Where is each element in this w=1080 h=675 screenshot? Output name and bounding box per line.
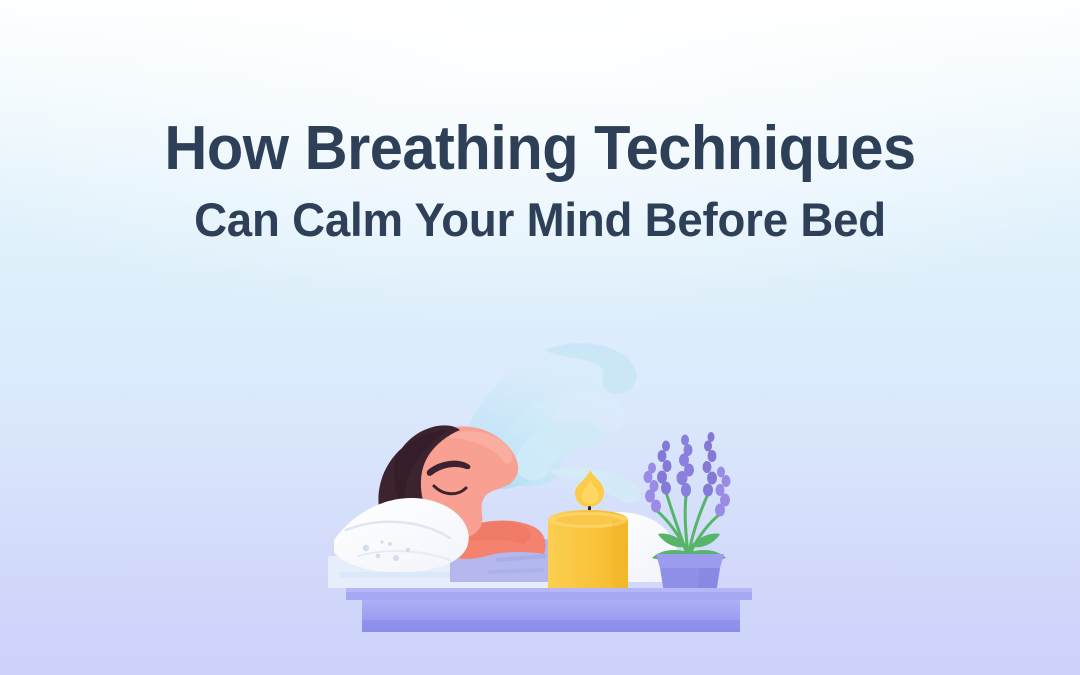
table-top-edge xyxy=(346,588,752,592)
pillow-left xyxy=(334,498,469,572)
lavender-flowers xyxy=(644,432,731,517)
poster-canvas: How Breathing Techniques Can Calm Your M… xyxy=(0,0,1080,675)
heading-block: How Breathing Techniques Can Calm Your M… xyxy=(0,118,1080,243)
page-subtitle: Can Calm Your Mind Before Bed xyxy=(16,196,1064,243)
page-title: How Breathing Techniques xyxy=(22,118,1059,180)
hero-illustration xyxy=(300,320,780,640)
candle-wax-well xyxy=(556,515,620,525)
bedside-table-group xyxy=(346,588,752,632)
pillow-left-group xyxy=(334,498,469,572)
table-body-shadow xyxy=(362,620,740,632)
lavender-pot-rim xyxy=(656,554,724,568)
